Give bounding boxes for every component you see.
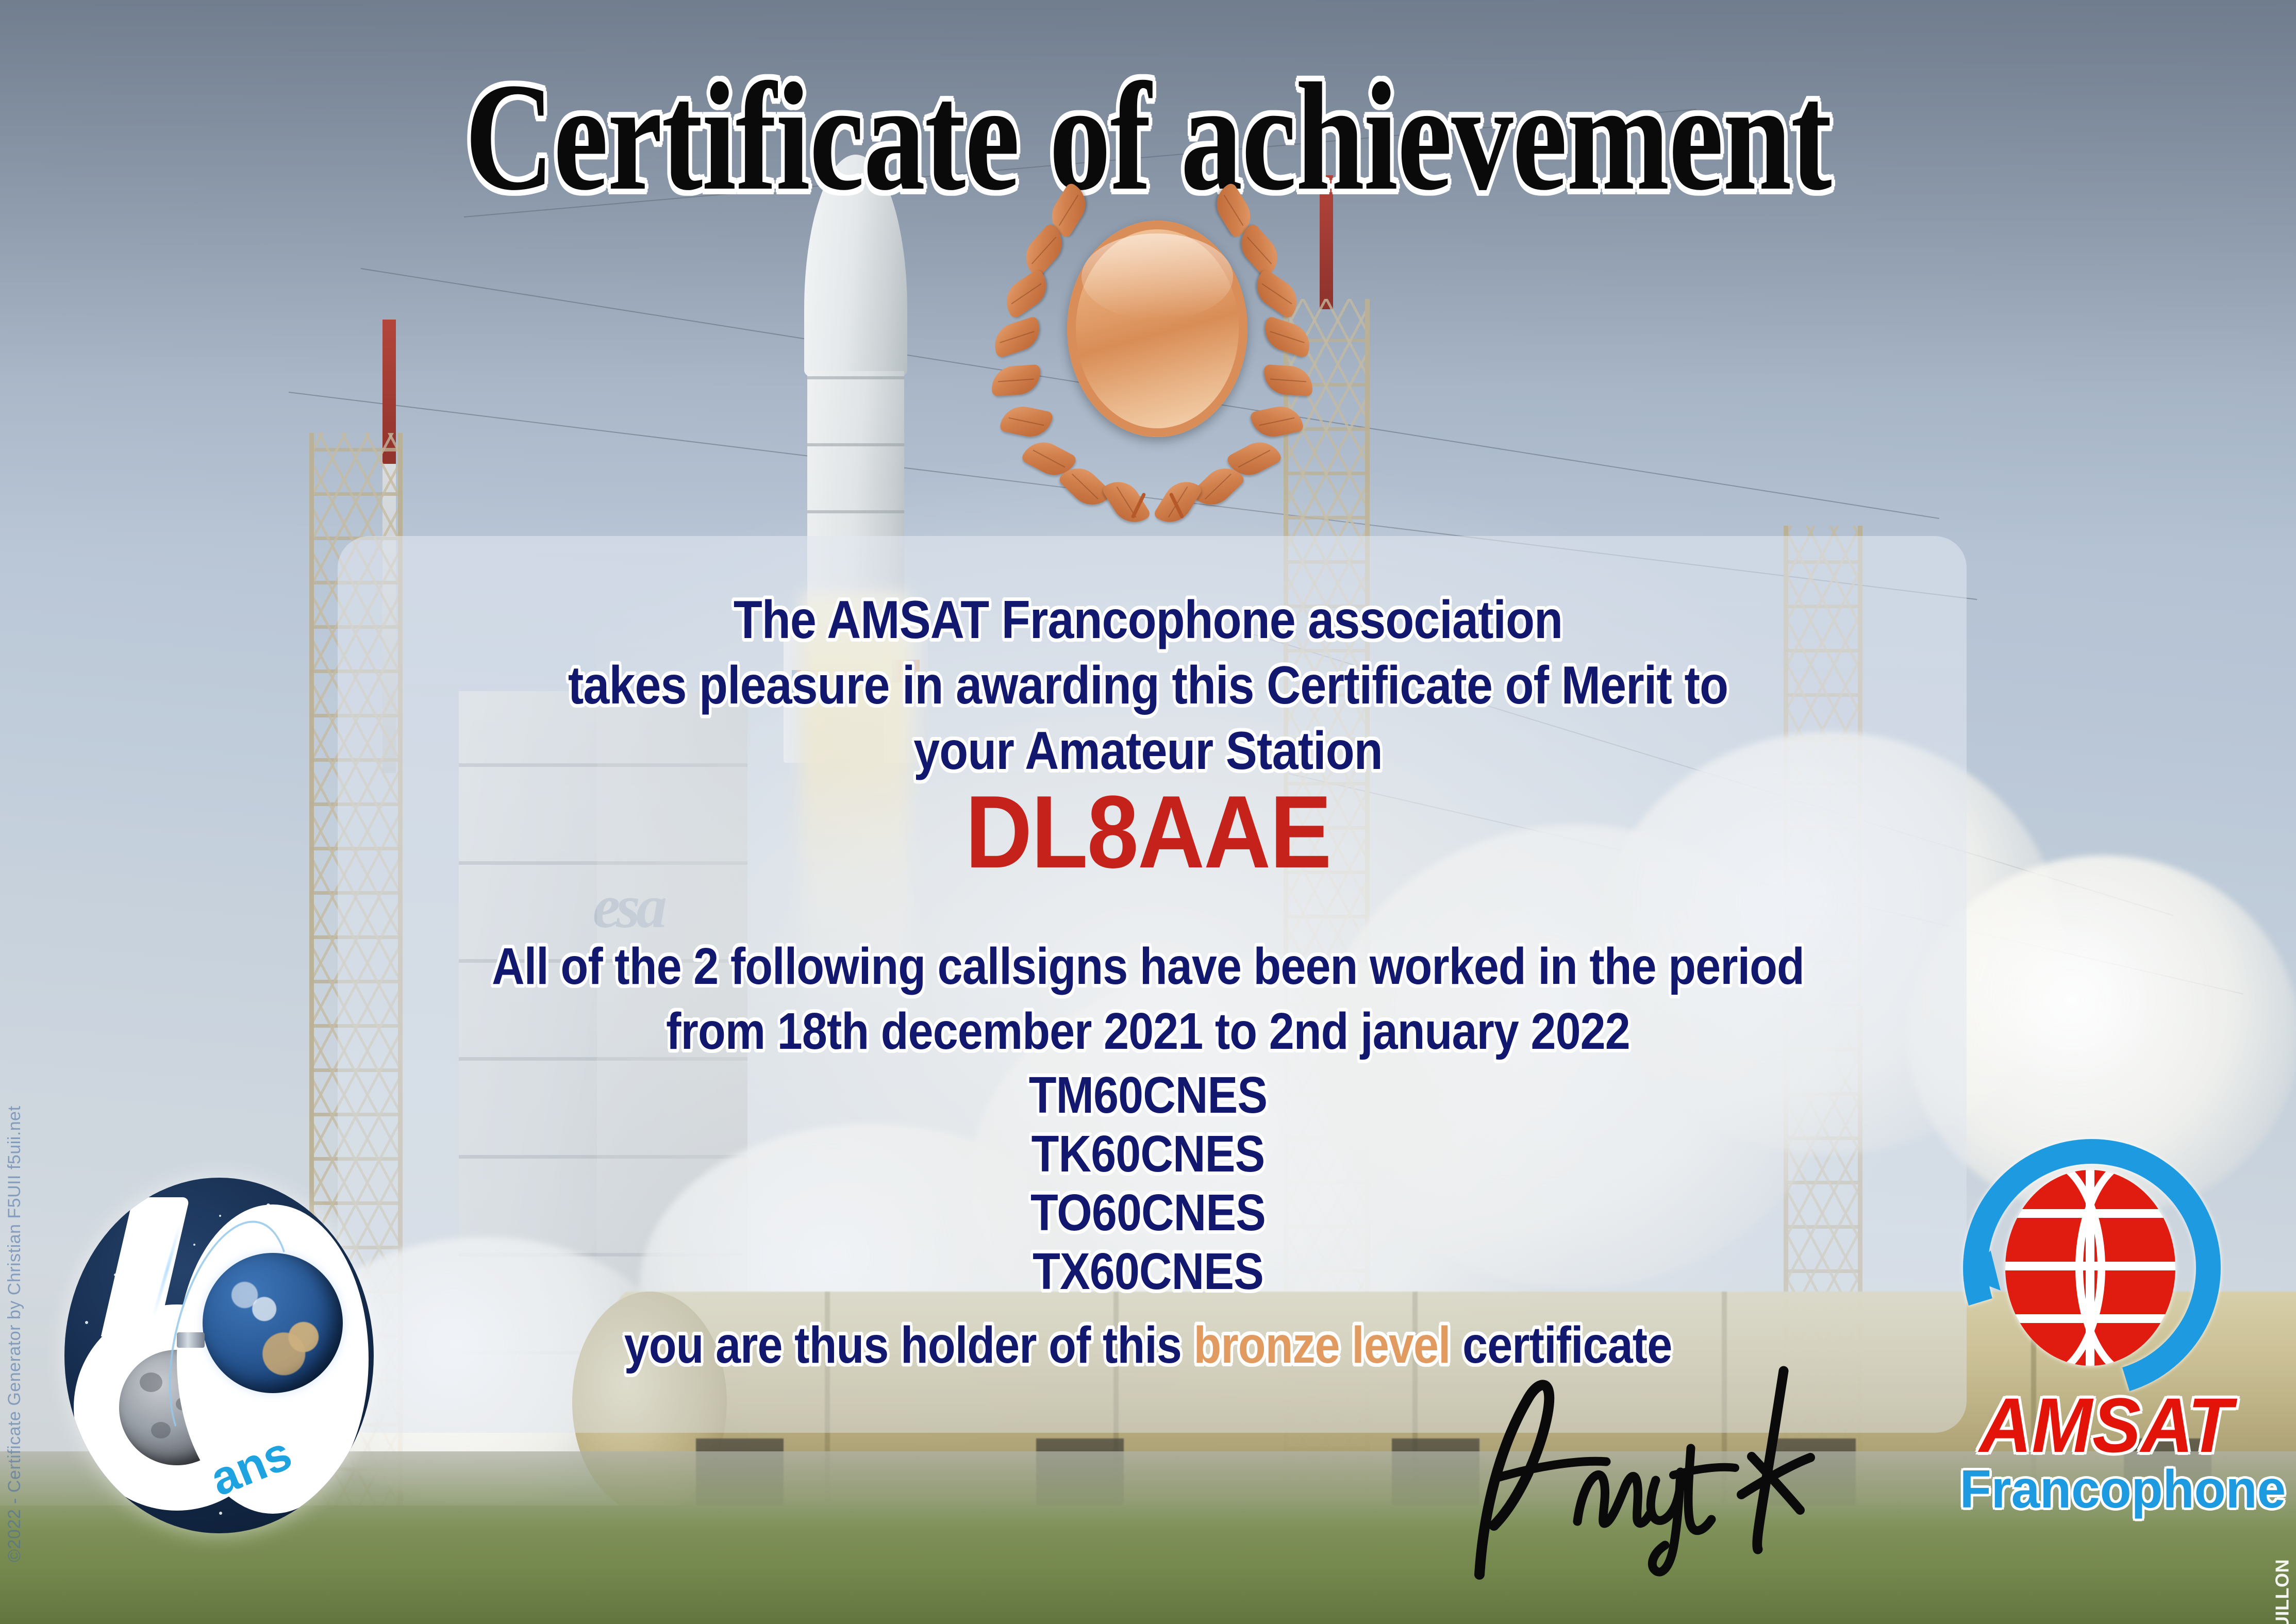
recipient-callsign: DL8AAE <box>115 781 2182 884</box>
award-period-text: All of the 2 following callsigns have be… <box>138 934 2158 1064</box>
intro-line-1: The AMSAT Francophone association <box>138 588 2158 653</box>
award-level-line: you are thus holder of this bronze level… <box>138 1317 2158 1374</box>
award-line-prefix: you are thus holder of this <box>624 1316 1194 1374</box>
intro-line-3: your Amateur Station <box>138 718 2158 784</box>
satellite-icon <box>177 1332 205 1348</box>
amsat-subtitle: Francophone <box>1960 1463 2252 1516</box>
list-item: TM60CNES <box>138 1066 2158 1125</box>
medal-disc <box>1067 221 1247 437</box>
generator-credit: ©2022 - Certificate Generator by Christi… <box>5 1106 25 1562</box>
award-intro-text: The AMSAT Francophone association takes … <box>138 588 2158 784</box>
amsat-globe <box>2005 1170 2175 1366</box>
amsat-globe-logo-icon: AMSAT Francophone <box>1954 1139 2258 1531</box>
list-item: TX60CNES <box>138 1242 2158 1301</box>
intro-line-2: takes pleasure in awarding this Certific… <box>138 653 2158 718</box>
cnes-60-ans-logo-icon: ans <box>64 1178 374 1533</box>
worked-callsign-list: TM60CNES TK60CNES TO60CNES TX60CNES <box>138 1066 2158 1301</box>
list-item: TK60CNES <box>138 1125 2158 1183</box>
certificate-canvas: esa <box>0 0 2296 1624</box>
period-line-2: from 18th december 2021 to 2nd january 2… <box>138 999 2158 1064</box>
bronze-laurel-wreath-medal-icon <box>982 180 1333 515</box>
cnes-logo-circle: ans <box>64 1178 374 1533</box>
status-badge-award-level: bronze level <box>1194 1316 1451 1374</box>
amsat-wordmark: AMSAT <box>1963 1386 2249 1464</box>
photo-credit: ©2021 ESA-CNES-ARIANESPACE / Optique Vid… <box>2271 1559 2293 1624</box>
list-item: TO60CNES <box>138 1183 2158 1242</box>
handwritten-signature-icon <box>1423 1340 1835 1582</box>
period-line-1: All of the 2 following callsigns have be… <box>138 934 2158 999</box>
